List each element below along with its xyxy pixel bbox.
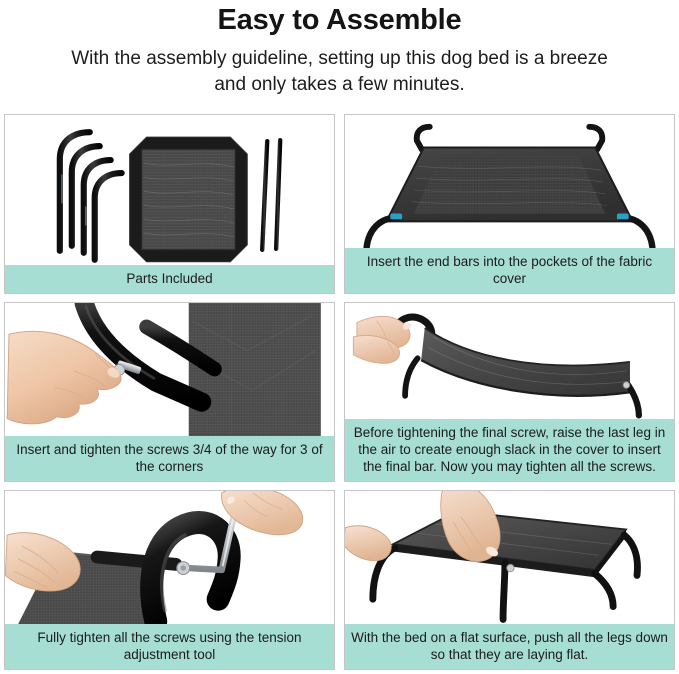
- step-caption-parts-included: Parts Included: [5, 265, 334, 293]
- step-image-push-legs-flat: [345, 491, 674, 624]
- header: Easy to Assemble With the assembly guide…: [0, 0, 679, 98]
- assembly-instructions-page: Easy to Assemble With the assembly guide…: [0, 0, 679, 674]
- step-image-parts-included: [5, 115, 334, 265]
- step-panel-insert-end-bars: Insert the end bars into the pockets of …: [344, 114, 675, 294]
- step-panel-parts-included: Parts Included: [4, 114, 335, 294]
- step-panel-raise-last-leg: Before tightening the final screw, raise…: [344, 302, 675, 482]
- step-caption-raise-last-leg: Before tightening the final screw, raise…: [345, 419, 674, 481]
- step-panel-insert-tighten-screws: Insert and tighten the screws 3/4 of the…: [4, 302, 335, 482]
- step-caption-insert-tighten-screws: Insert and tighten the screws 3/4 of the…: [5, 436, 334, 481]
- step-caption-insert-end-bars: Insert the end bars into the pockets of …: [345, 248, 674, 293]
- page-title: Easy to Assemble: [0, 2, 679, 38]
- step-image-insert-end-bars: [345, 115, 674, 248]
- step-caption-fully-tighten-screws: Fully tighten all the screws using the t…: [5, 624, 334, 669]
- step-panel-fully-tighten-screws: Fully tighten all the screws using the t…: [4, 490, 335, 670]
- step-image-insert-tighten-screws: [5, 303, 334, 436]
- step-panel-push-legs-flat: With the bed on a flat surface, push all…: [344, 490, 675, 670]
- step-image-raise-last-leg: [345, 303, 674, 419]
- steps-grid: Parts Included: [4, 114, 675, 670]
- page-subtitle: With the assembly guideline, setting up …: [60, 46, 620, 98]
- step-caption-push-legs-flat: With the bed on a flat surface, push all…: [345, 624, 674, 669]
- step-image-fully-tighten-screws: [5, 491, 334, 624]
